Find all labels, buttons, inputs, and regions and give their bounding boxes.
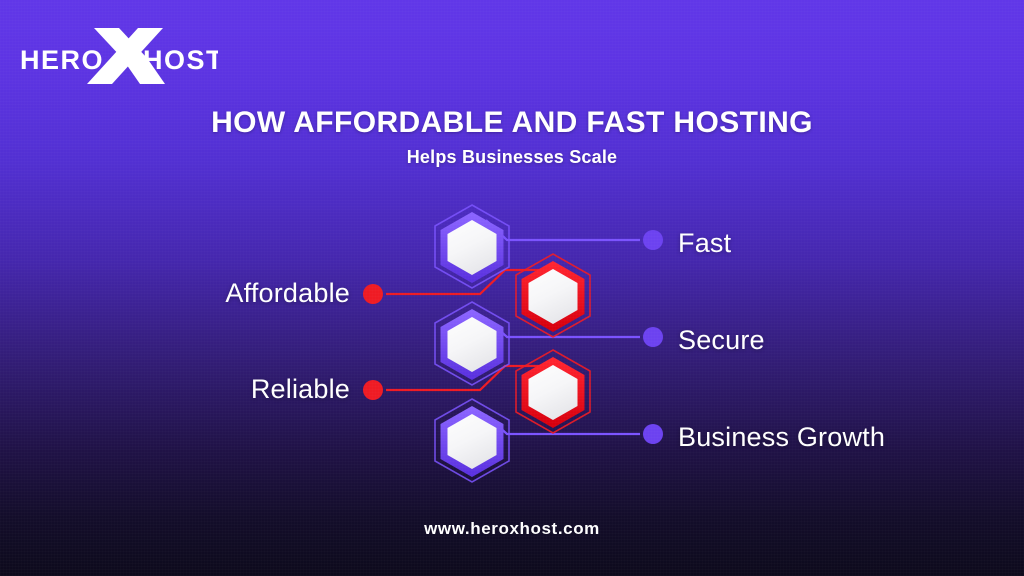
label-business-growth[interactable]: Business Growth xyxy=(678,422,885,453)
hexagon-inner-node xyxy=(525,265,581,328)
connector-lines xyxy=(386,220,640,434)
label-fast[interactable]: Fast xyxy=(678,228,731,259)
hexagon-inner-node xyxy=(444,216,500,279)
hexagon-inner-node xyxy=(444,313,500,376)
red-dot-reliable[interactable] xyxy=(363,380,383,400)
infographic-canvas: HERO HOST HOW AFFORDABLE AND FAST HOSTIN… xyxy=(0,0,1024,576)
label-reliable[interactable]: Reliable xyxy=(60,374,350,405)
hexagon-inner-node xyxy=(525,361,581,424)
red-dot-affordable[interactable] xyxy=(363,284,383,304)
label-affordable[interactable]: Affordable xyxy=(60,278,350,309)
label-secure[interactable]: Secure xyxy=(678,325,765,356)
purple-dot-secure[interactable] xyxy=(643,327,663,347)
hexagon-inner-node xyxy=(444,410,500,473)
purple-hexagon[interactable] xyxy=(435,399,509,482)
footer-url[interactable]: www.heroxhost.com xyxy=(0,519,1024,539)
red-hexagon[interactable] xyxy=(516,254,590,337)
purple-dot-business-growth[interactable] xyxy=(643,424,663,444)
red-hexagon[interactable] xyxy=(516,350,590,433)
purple-dot-fast[interactable] xyxy=(643,230,663,250)
